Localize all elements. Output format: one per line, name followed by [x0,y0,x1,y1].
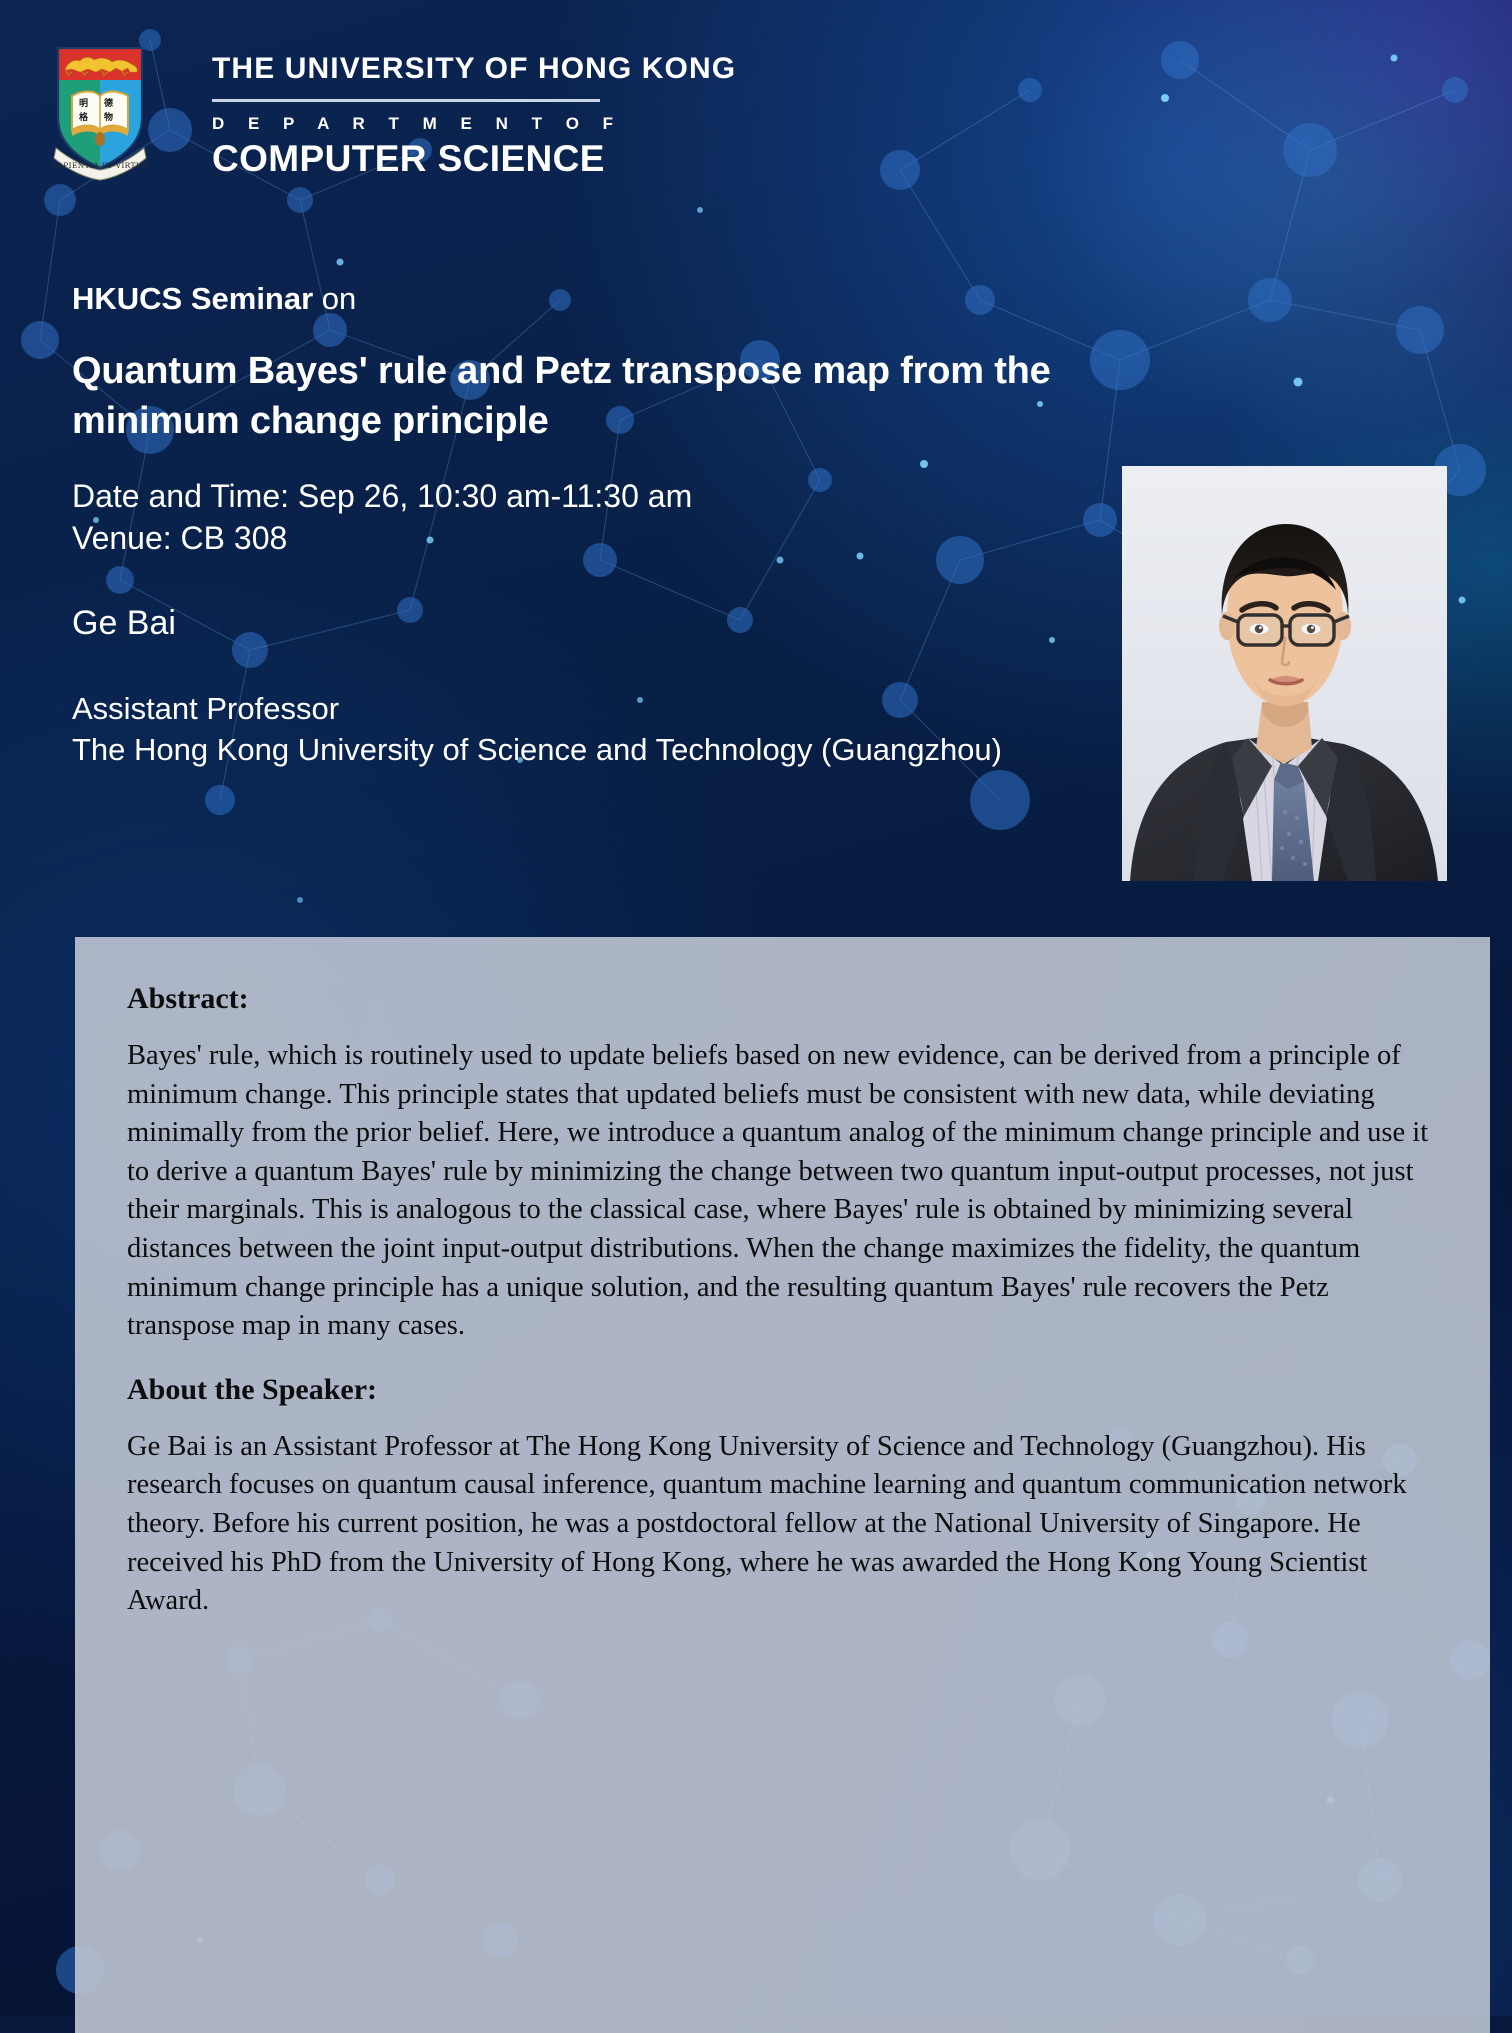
abstract-heading: Abstract: [127,981,1438,1017]
svg-text:物: 物 [104,111,113,123]
seminar-prefix-rest: on [313,281,356,316]
about-speaker-body: Ge Bai is an Assistant Professor at The … [127,1428,1438,1621]
university-name: THE UNIVERSITY OF HONG KONG [212,54,736,84]
talk-title: Quantum Bayes' rule and Petz transpose m… [72,347,1092,446]
abstract-panel: Abstract: Bayes' rule, which is routinel… [75,937,1490,2033]
speaker-affiliation: The Hong Kong University of Science and … [72,729,1122,771]
date-and-time: Date and Time: Sep 26, 10:30 am-11:30 am [72,476,1122,518]
header-divider [212,99,600,102]
svg-text:明: 明 [79,98,88,109]
hku-crest-icon: 明德 格物 SAPIENTIA·ET·VIRTUS [52,44,148,182]
brand-text-block: THE UNIVERSITY OF HONG KONG D E P A R T … [212,44,736,179]
venue: Venue: CB 308 [72,518,1122,560]
svg-text:SAPIENTIA·ET·VIRTUS: SAPIENTIA·ET·VIRTUS [52,161,148,170]
abstract-body: Bayes' rule, which is routinely used to … [127,1037,1438,1346]
department-name: COMPUTER SCIENCE [212,140,736,179]
about-speaker-heading: About the Speaker: [127,1372,1438,1408]
poster-main-content: HKUCS Seminar on Quantum Bayes' rule and… [72,280,1122,771]
seminar-prefix-bold: HKUCS Seminar [72,281,313,316]
speaker-portrait-photo [1122,466,1447,881]
department-label: D E P A R T M E N T O F [212,115,736,132]
svg-text:格: 格 [79,111,89,123]
poster-header: 明德 格物 SAPIENTIA·ET·VIRTUS THE UNIVERSITY… [52,44,736,182]
svg-text:德: 德 [104,97,113,109]
speaker-title: Assistant Professor [72,688,1122,730]
seminar-prefix: HKUCS Seminar on [72,280,1122,317]
speaker-name: Ge Bai [72,603,1122,644]
